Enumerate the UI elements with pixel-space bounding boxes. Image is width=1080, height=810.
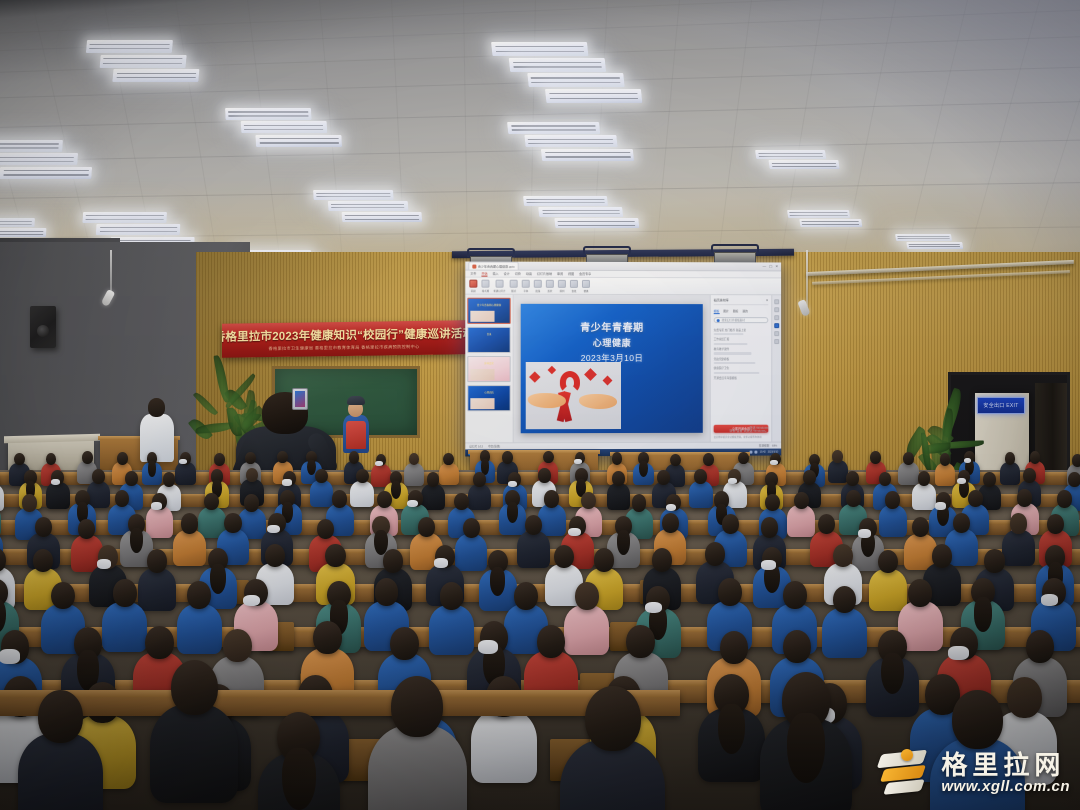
face-mask bbox=[97, 559, 112, 569]
audience-head bbox=[953, 513, 970, 533]
slide-thumbnail-2[interactable]: 目录 bbox=[467, 327, 510, 353]
ribbon-button-icon bbox=[510, 279, 518, 287]
face-mask bbox=[243, 595, 260, 607]
audience-head bbox=[171, 660, 218, 715]
slide-thumbnail-pane[interactable]: 青少年青春期心理健康目录身体变化心理调适 bbox=[465, 295, 513, 443]
heart-1 bbox=[529, 371, 540, 382]
face-mask bbox=[434, 558, 449, 568]
audience-head bbox=[694, 469, 707, 484]
audience-member bbox=[633, 452, 653, 482]
heart-3 bbox=[584, 368, 597, 381]
task-pane-header: 稻壳素材库 ✕ bbox=[714, 298, 769, 305]
audience-head bbox=[224, 513, 241, 533]
speaker-cone bbox=[37, 325, 49, 337]
audience-head bbox=[51, 582, 75, 610]
watermark-logo-icon bbox=[880, 748, 934, 798]
face-mask bbox=[267, 525, 279, 534]
ribbon-button-label: 新建幻灯片 bbox=[494, 288, 506, 292]
audience-body bbox=[822, 608, 867, 658]
upgrade-membership-button[interactable]: 立即开通会员 bbox=[714, 424, 769, 432]
task-pane-tab-图片[interactable]: 图片 bbox=[723, 309, 729, 314]
audience-head bbox=[705, 542, 725, 566]
ceiling-light-panel bbox=[225, 108, 312, 120]
maximize-icon[interactable]: ▢ bbox=[769, 264, 772, 268]
slide-thumbnail-1[interactable]: 青少年青春期心理健康 bbox=[467, 298, 510, 324]
face-mask bbox=[1041, 594, 1058, 606]
audience-head bbox=[147, 549, 167, 573]
audience-head bbox=[332, 490, 347, 507]
ribbon-button-label: 查找 bbox=[571, 288, 576, 292]
face-mask bbox=[375, 461, 383, 466]
audience-head bbox=[418, 517, 435, 537]
audience-head bbox=[356, 469, 369, 484]
audience-member bbox=[760, 672, 852, 807]
ribbon-tab-幻灯片放映[interactable]: 幻灯片放映 bbox=[537, 272, 552, 276]
audience-head bbox=[903, 452, 914, 465]
audience-ponytail bbox=[881, 653, 903, 694]
face-mask bbox=[666, 504, 677, 511]
task-pane-title: 稻壳素材库 bbox=[714, 298, 729, 302]
rail-icon-comment[interactable] bbox=[774, 299, 779, 304]
ceiling-light-panel bbox=[313, 190, 394, 200]
audience-head bbox=[1047, 514, 1064, 534]
template-row-placeholder bbox=[714, 372, 759, 374]
audience-head bbox=[375, 578, 399, 606]
window-controls[interactable]: — ▢ ✕ bbox=[763, 264, 779, 268]
ceiling-light-panel bbox=[507, 122, 600, 134]
ribbon-button-icon bbox=[582, 279, 590, 287]
audience-head bbox=[204, 493, 219, 510]
audience-head bbox=[932, 544, 952, 568]
audience-head bbox=[612, 452, 623, 465]
audience-head bbox=[92, 469, 105, 484]
face-mask bbox=[645, 602, 662, 614]
task-pane-close-icon[interactable]: ✕ bbox=[766, 298, 768, 302]
photo-scene: 安全出口 EXIT 香格里拉市2023年健康知识“校园行”健康巡讲活动 香格里拉… bbox=[0, 0, 1080, 810]
staff-head bbox=[148, 398, 165, 417]
plant-leaf bbox=[193, 391, 218, 418]
ribbon-button-icon bbox=[496, 279, 504, 287]
task-pane-tab-模板[interactable]: 模板 bbox=[714, 309, 720, 314]
ribbon-tab-会员专享[interactable]: 会员专享 bbox=[579, 272, 591, 276]
thumbnail-caption: 心理调适 bbox=[484, 390, 494, 394]
audience-head bbox=[968, 490, 983, 507]
slide-thumbnail-3[interactable]: 身体变化 bbox=[467, 356, 510, 382]
audience-head bbox=[818, 514, 835, 534]
audience-member bbox=[258, 712, 340, 810]
audience-head bbox=[525, 515, 542, 535]
ceiling-light-panel bbox=[0, 167, 93, 179]
audience-ponytail bbox=[787, 713, 825, 783]
ribbon-button-label: 形状 bbox=[547, 288, 552, 292]
audience-head bbox=[502, 451, 513, 464]
audience-head bbox=[514, 582, 538, 610]
audience-head bbox=[82, 451, 93, 464]
ribbon-tab-动画[interactable]: 动画 bbox=[526, 272, 532, 276]
audience-head bbox=[390, 627, 418, 660]
ceiling-light-panel bbox=[523, 196, 608, 206]
ceiling-light-panel bbox=[0, 218, 35, 227]
close-icon[interactable]: ✕ bbox=[775, 264, 778, 268]
audience-head bbox=[181, 513, 198, 533]
template-row-placeholder bbox=[714, 352, 752, 354]
face-mask bbox=[282, 479, 291, 485]
template-row-placeholder bbox=[714, 362, 755, 364]
podium-top bbox=[4, 434, 100, 444]
watermark-text-block: 格里拉网 www.xgll.com.cn bbox=[941, 752, 1070, 794]
template-category-row[interactable]: 免费专区 热门推荐 新品上架 bbox=[714, 328, 769, 332]
ceiling-light-panel bbox=[0, 140, 63, 152]
ceiling-light-panel bbox=[539, 207, 624, 217]
slide-title-block: 青少年青春期 心理健康 2023年3月10日 bbox=[521, 319, 703, 364]
rail-icon-help[interactable] bbox=[774, 331, 779, 336]
audience-head bbox=[652, 548, 672, 572]
ribbon-button-label: 段落 bbox=[535, 288, 540, 292]
hand-left bbox=[528, 393, 566, 408]
audience-head bbox=[537, 625, 565, 658]
ribbon-button-label: 格式刷 bbox=[482, 288, 489, 292]
audience-head bbox=[427, 472, 440, 487]
audience-head bbox=[35, 517, 52, 537]
template-category-row[interactable]: 工作总结汇报 bbox=[714, 337, 769, 341]
audience-head bbox=[626, 625, 654, 658]
thumbnail-image bbox=[471, 369, 495, 380]
audience-head bbox=[544, 490, 559, 507]
task-pane-tab-我的[interactable]: 我的 bbox=[742, 309, 748, 314]
audience-head bbox=[145, 626, 173, 659]
ribbon-button-label: 粘贴 bbox=[471, 288, 476, 292]
audience-head bbox=[454, 493, 469, 510]
audience-head bbox=[349, 451, 360, 464]
audience-head bbox=[1068, 472, 1080, 487]
audience-head bbox=[940, 453, 951, 466]
audience-head bbox=[33, 549, 53, 573]
ribbon-button-字体[interactable]: 字体 bbox=[522, 279, 530, 292]
projection-screen: 青少年青春期心理健康.pptx — ▢ ✕ 文件开始插入设计切换动画幻灯片放映审… bbox=[465, 262, 781, 457]
audience-head bbox=[538, 468, 551, 483]
audience-head bbox=[1026, 630, 1054, 663]
ceiling-light-panel bbox=[0, 228, 47, 237]
ribbon-tab-插入[interactable]: 插入 bbox=[493, 272, 499, 276]
audience-head bbox=[383, 549, 403, 573]
face-mask bbox=[568, 528, 580, 537]
audience-head bbox=[657, 470, 670, 485]
ceiling-light-panel bbox=[256, 135, 343, 147]
face-mask bbox=[858, 529, 870, 538]
ribbon-tab-设计[interactable]: 设计 bbox=[504, 272, 510, 276]
logo-stroke-3 bbox=[884, 779, 926, 795]
audience-head bbox=[794, 492, 809, 509]
audience-head bbox=[833, 586, 857, 614]
audience-head bbox=[612, 471, 625, 486]
rail-icon-settings[interactable] bbox=[774, 339, 779, 344]
audience-head bbox=[720, 631, 748, 664]
task-pane-tab-图标[interactable]: 图标 bbox=[733, 309, 739, 314]
ceiling-light-panel bbox=[491, 42, 588, 56]
audience-head bbox=[718, 578, 742, 606]
audience-head bbox=[879, 472, 892, 487]
audience-head bbox=[783, 630, 811, 663]
template-task-pane[interactable]: 稻壳素材库 ✕ 模板图片图标我的 搜索幻灯片模板素材 免费专区 热门推荐 新品上… bbox=[710, 295, 772, 442]
document-tab-label: 青少年青春期心理健康.pptx bbox=[478, 264, 515, 268]
audience-head bbox=[163, 472, 176, 487]
audience-head bbox=[244, 494, 259, 511]
presenter-red-vest bbox=[342, 396, 372, 454]
audience-head bbox=[125, 471, 138, 486]
ceiling-light-panel bbox=[96, 224, 181, 235]
audience-head bbox=[908, 579, 932, 607]
slide-artwork-red-ribbon bbox=[526, 362, 621, 429]
staff-member-white-coat bbox=[140, 398, 174, 460]
ribbon-button-label: 替换 bbox=[584, 288, 589, 292]
audience-head bbox=[846, 490, 861, 507]
heart-4 bbox=[603, 375, 613, 385]
ceiling-light-panel bbox=[86, 40, 173, 53]
audience-head bbox=[738, 452, 749, 465]
audience-head bbox=[581, 492, 596, 509]
audience-head bbox=[594, 548, 614, 572]
face-mask bbox=[948, 646, 969, 660]
audience-head bbox=[765, 494, 780, 511]
audience-head bbox=[313, 621, 341, 654]
ribbon-tab-审阅[interactable]: 审阅 bbox=[557, 272, 563, 276]
ribbon-button-段落[interactable]: 段落 bbox=[534, 279, 542, 292]
document-tab[interactable]: 青少年青春期心理健康.pptx bbox=[468, 262, 518, 270]
status-bar-right[interactable]: 普通视图 68% bbox=[759, 444, 777, 448]
audience-head bbox=[703, 453, 714, 466]
audience-head bbox=[1072, 454, 1080, 467]
audience-head bbox=[78, 519, 95, 539]
rail-icon-share[interactable] bbox=[774, 315, 779, 320]
ribbon-button-查找[interactable]: 查找 bbox=[570, 279, 578, 292]
face-mask bbox=[0, 649, 20, 663]
presenter-cap bbox=[347, 396, 365, 405]
face-mask bbox=[478, 640, 499, 654]
thumbnail-caption: 目录 bbox=[487, 332, 492, 336]
thumbnail-caption: 身体变化 bbox=[484, 361, 494, 365]
pendant-wire-left bbox=[110, 250, 112, 294]
audience-head bbox=[1017, 489, 1032, 506]
audience-head bbox=[984, 549, 1004, 573]
audience-head bbox=[265, 544, 285, 568]
ceiling-light-panel bbox=[113, 69, 200, 82]
audience-ponytail bbox=[639, 461, 647, 477]
audience-head bbox=[14, 453, 25, 466]
language-indicator[interactable]: 中文(简体) bbox=[488, 444, 500, 448]
audience-ponytail bbox=[282, 748, 316, 810]
ribbon-button-icon bbox=[481, 279, 489, 287]
heart-2 bbox=[548, 366, 557, 375]
audience-head bbox=[575, 582, 599, 610]
tray-volume-icon[interactable] bbox=[755, 451, 758, 454]
banner-main-text: 香格里拉市2023年健康知识“校园行”健康巡讲活动 bbox=[222, 325, 466, 345]
face-mask bbox=[508, 481, 517, 487]
audience-head bbox=[187, 581, 211, 609]
template-category-rows[interactable]: 免费专区 热门推荐 新品上架工作总结汇报教育教学课件党政党建模板健康医疗卫生 bbox=[714, 326, 769, 374]
ribbon-tab-文件[interactable]: 文件 bbox=[470, 272, 476, 276]
task-pane-footer-note: 开通会员享海量模板 bbox=[714, 376, 769, 380]
ceiling-light-panel bbox=[509, 58, 606, 72]
audience-head bbox=[918, 471, 931, 486]
audience-head bbox=[885, 491, 900, 508]
ribbon-button-版式[interactable]: 版式 bbox=[510, 279, 518, 292]
event-banner: 香格里拉市2023年健康知识“校园行”健康巡讲活动 香格里拉市卫生健康局 香格里… bbox=[222, 320, 466, 357]
audience-head bbox=[245, 452, 256, 465]
audience-head bbox=[662, 513, 679, 533]
ribbon-button-icon bbox=[469, 279, 477, 287]
ceiling-light-panel bbox=[0, 153, 78, 165]
template-category-row[interactable]: 教育教学课件 bbox=[714, 347, 769, 351]
powerpoint-icon bbox=[472, 264, 476, 268]
audience-head bbox=[833, 544, 853, 568]
audience-head bbox=[325, 544, 345, 568]
thumbnail-image bbox=[471, 311, 495, 322]
audience-member bbox=[698, 674, 764, 772]
audience-body bbox=[150, 704, 238, 803]
audience-body bbox=[368, 725, 467, 810]
thumbnail-caption: 青少年青春期心理健康 bbox=[477, 303, 501, 307]
ribbon-button-label: 字体 bbox=[523, 288, 528, 292]
rail-icon-templates[interactable] bbox=[774, 323, 779, 328]
template-category-row[interactable]: 健康医疗卫生 bbox=[714, 366, 769, 370]
audience-member bbox=[18, 690, 103, 810]
pendant-wire-right bbox=[806, 250, 808, 306]
ceiling-light-panel bbox=[895, 234, 952, 241]
template-category-row[interactable]: 党政党建模板 bbox=[714, 357, 769, 361]
audience-head bbox=[878, 550, 898, 574]
face-mask bbox=[574, 459, 582, 464]
audience-head bbox=[1057, 490, 1072, 507]
view-mode-label[interactable]: 普通视图 bbox=[759, 444, 769, 448]
audience-head bbox=[38, 690, 83, 743]
ribbon-button-label: 版式 bbox=[511, 288, 516, 292]
ceiling-light-panel bbox=[83, 212, 168, 223]
ribbon-button-icon bbox=[570, 279, 578, 287]
template-row-placeholder bbox=[714, 333, 744, 335]
audience-head bbox=[722, 514, 739, 534]
ribbon-button-粘贴[interactable]: 粘贴 bbox=[469, 279, 477, 292]
ceiling-light-panel bbox=[554, 218, 639, 228]
slide-title-line2: 心理健康 bbox=[593, 336, 631, 349]
audience-member bbox=[822, 586, 867, 652]
audience-head bbox=[317, 519, 334, 539]
ribbon-tab-开始[interactable]: 开始 bbox=[481, 271, 487, 276]
face-mask bbox=[761, 560, 776, 570]
search-icon bbox=[717, 319, 720, 322]
audience-head bbox=[952, 690, 1002, 749]
audience-head bbox=[1005, 452, 1016, 465]
ceiling-light-panel bbox=[787, 210, 850, 218]
current-slide: 青少年青春期 心理健康 2023年3月10日 bbox=[521, 304, 703, 434]
face-mask bbox=[770, 460, 778, 465]
ceiling-light-panel bbox=[527, 73, 624, 87]
ceiling-light-panel bbox=[799, 219, 862, 227]
audience-body bbox=[471, 709, 537, 783]
ribbon-tab-视图[interactable]: 视图 bbox=[568, 272, 574, 276]
slide-thumbnail-4[interactable]: 心理调适 bbox=[467, 385, 510, 411]
audience-head bbox=[1030, 451, 1041, 464]
template-search-placeholder: 搜索幻灯片模板素材 bbox=[722, 318, 745, 322]
audience-head bbox=[113, 579, 137, 607]
rail-icon-favorite[interactable] bbox=[774, 307, 779, 312]
zoom-level[interactable]: 68% bbox=[772, 444, 777, 447]
ribbon-button-icon bbox=[558, 279, 566, 287]
audience-member bbox=[46, 470, 70, 505]
ceiling-light-panel bbox=[241, 121, 328, 133]
ribbon-tab-切换[interactable]: 切换 bbox=[515, 272, 521, 276]
ceiling-light-panel bbox=[755, 150, 826, 159]
ribbon-button-排列[interactable]: 排列 bbox=[558, 279, 566, 292]
presenter-vest bbox=[346, 421, 366, 449]
template-search-input[interactable]: 搜索幻灯片模板素材 bbox=[714, 317, 769, 323]
ceiling-light-panel bbox=[99, 55, 186, 68]
ceiling-light-panel bbox=[906, 242, 963, 249]
audience-head bbox=[783, 581, 807, 609]
slide-title-line1: 青少年青春期 bbox=[580, 319, 644, 334]
face-mask bbox=[935, 502, 946, 509]
slide-counter: 幻灯片 1/12 bbox=[469, 444, 483, 448]
watermark-site-name: 格里拉网 bbox=[941, 752, 1070, 778]
audience-head bbox=[315, 469, 328, 484]
audience-head bbox=[1023, 468, 1036, 483]
ceiling-light-panel bbox=[328, 201, 409, 211]
thumbnail-image bbox=[471, 398, 495, 409]
banner-sub-text: 香格里拉市卫生健康局 香格里拉市教育体育局 香格里拉市疾病预防控制中心 bbox=[268, 344, 419, 352]
ribbon-button-新建幻灯片[interactable]: 新建幻灯片 bbox=[494, 279, 506, 292]
audience-head bbox=[543, 451, 554, 464]
ribbon-button-形状[interactable]: 形状 bbox=[546, 279, 554, 292]
ceiling-light-panel bbox=[541, 149, 634, 161]
ribbon-button-替换[interactable]: 替换 bbox=[582, 279, 590, 292]
audience-head bbox=[443, 453, 454, 466]
audience-head bbox=[473, 472, 486, 487]
hand-right bbox=[579, 394, 617, 409]
audience-head bbox=[983, 472, 996, 487]
audience-head bbox=[214, 453, 225, 466]
ceiling-light-panel bbox=[545, 89, 642, 103]
face-mask bbox=[407, 500, 418, 507]
ribbon-button-icon bbox=[546, 279, 554, 287]
template-row-placeholder bbox=[714, 343, 748, 345]
audience-ponytail bbox=[148, 461, 156, 477]
audience-head bbox=[585, 686, 641, 751]
ribbon-button-格式刷[interactable]: 格式刷 bbox=[481, 279, 489, 292]
ceiling-light-panel bbox=[769, 160, 840, 169]
wall-speaker bbox=[30, 306, 56, 348]
ribbon-toolbar[interactable]: 粘贴格式刷新建幻灯片版式字体段落形状排列查找替换 bbox=[465, 278, 781, 296]
audience-body bbox=[46, 482, 70, 509]
site-watermark: 格里拉网 www.xgll.com.cn bbox=[880, 748, 1070, 798]
audience-head bbox=[670, 454, 681, 467]
audience-member bbox=[560, 686, 665, 810]
ceiling-light-panel bbox=[524, 135, 617, 147]
face-mask bbox=[728, 478, 737, 484]
face-mask bbox=[151, 502, 162, 509]
watermark-site-url: www.xgll.com.cn bbox=[941, 779, 1070, 794]
task-pane-tabs[interactable]: 模板图片图标我的 bbox=[714, 308, 769, 315]
audience-member bbox=[368, 676, 467, 810]
audience-head bbox=[554, 545, 574, 569]
ribbon-button-icon bbox=[522, 279, 530, 287]
minimize-icon[interactable]: — bbox=[763, 264, 766, 268]
audience-head bbox=[1010, 513, 1027, 533]
face-mask bbox=[51, 479, 60, 485]
right-icon-rail[interactable] bbox=[771, 295, 781, 441]
audience-head bbox=[846, 471, 859, 486]
audience-head bbox=[223, 629, 251, 662]
audience-head bbox=[246, 468, 259, 483]
audience-head bbox=[117, 452, 128, 465]
